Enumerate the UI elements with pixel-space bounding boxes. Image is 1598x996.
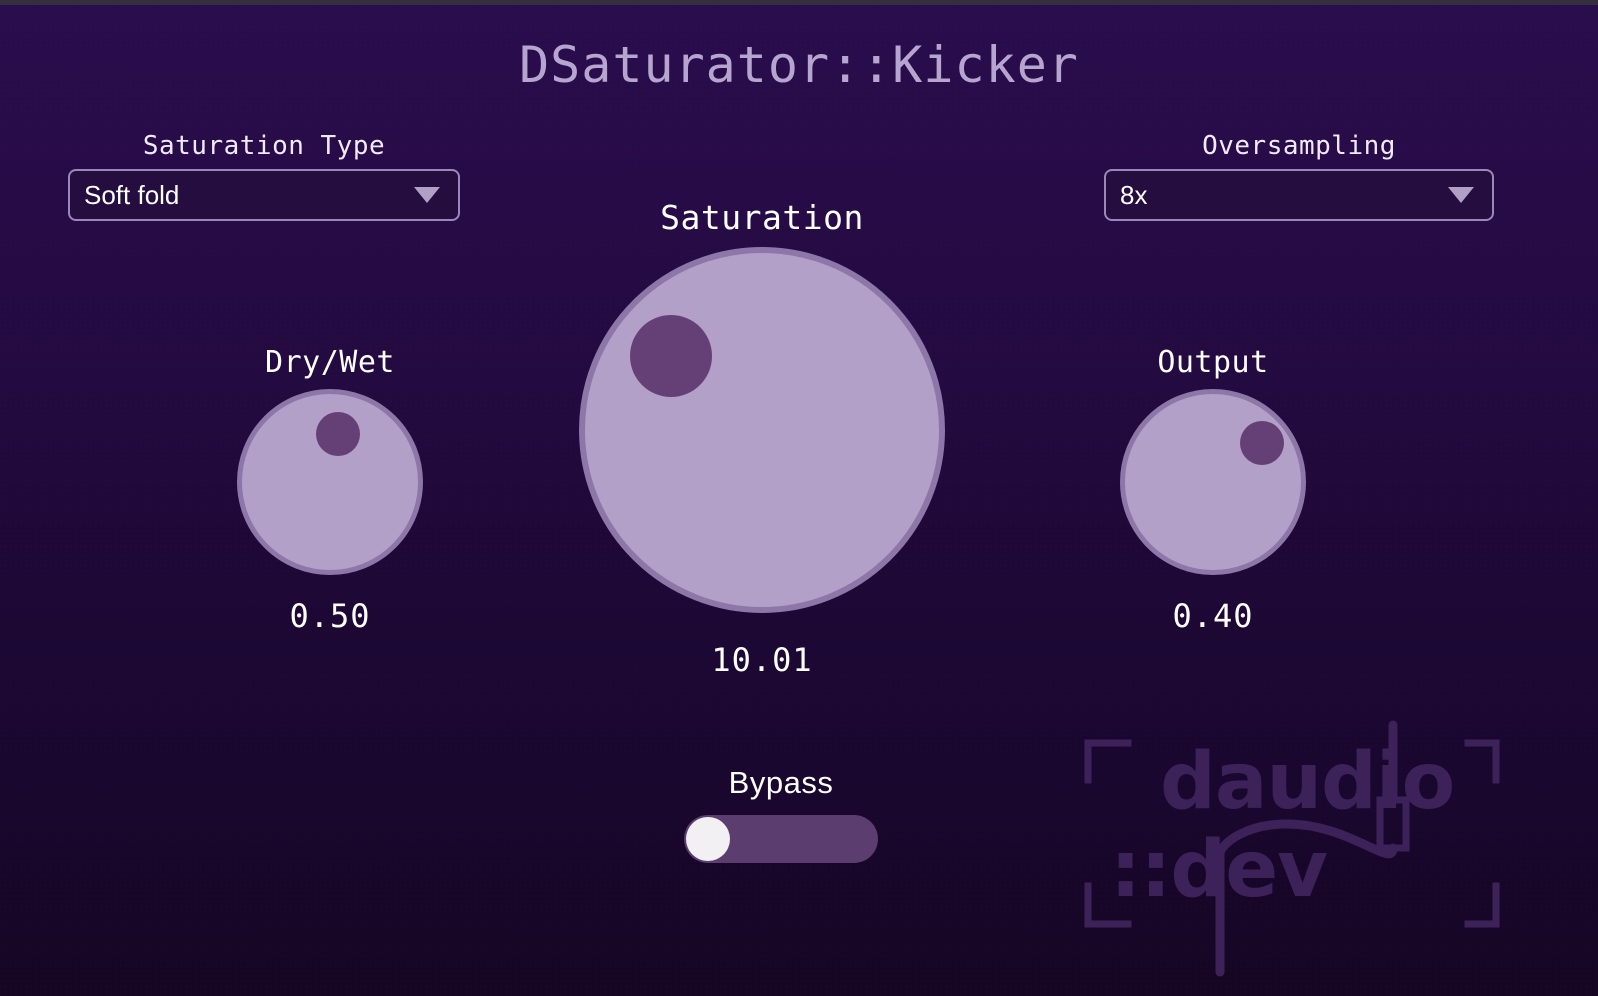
saturation-knob-group: Saturation 10.01 — [529, 198, 995, 679]
oversampling-label: Oversampling — [1104, 131, 1494, 161]
output-knob-value: 0.40 — [1094, 597, 1332, 635]
output-knob-dial[interactable] — [1120, 389, 1306, 575]
saturation-type-dropdown[interactable]: Soft fold — [68, 169, 460, 221]
drywet-knob-group: Dry/Wet 0.50 — [211, 345, 449, 635]
saturation-knob-dial[interactable] — [579, 247, 945, 613]
bypass-toggle[interactable] — [684, 815, 878, 863]
drywet-knob-dial[interactable] — [237, 389, 423, 575]
oversampling-group: Oversampling 8x — [1104, 131, 1494, 221]
output-knob-indicator — [1240, 421, 1284, 465]
saturation-type-group: Saturation Type Soft fold — [68, 131, 460, 221]
bypass-label: Bypass — [640, 765, 922, 801]
chevron-down-icon — [1448, 187, 1474, 203]
page-title: DSaturator::Kicker — [0, 36, 1598, 94]
saturation-knob-indicator — [630, 315, 712, 397]
oversampling-value: 8x — [1106, 180, 1147, 211]
oversampling-dropdown[interactable]: 8x — [1104, 169, 1494, 221]
saturation-knob-value: 10.01 — [529, 641, 995, 679]
drywet-knob-value: 0.50 — [211, 597, 449, 635]
chevron-down-icon — [414, 187, 440, 203]
output-knob-group: Output 0.40 — [1094, 345, 1332, 635]
plugin-window: daudio ::dev DSaturator::Kicker Saturati… — [0, 0, 1598, 996]
drywet-knob-label: Dry/Wet — [211, 345, 449, 380]
bypass-group: Bypass — [640, 765, 922, 863]
saturation-type-label: Saturation Type — [68, 131, 460, 161]
window-title-strip — [0, 0, 1598, 5]
saturation-type-value: Soft fold — [70, 180, 179, 211]
bypass-toggle-thumb — [686, 817, 730, 861]
output-knob-label: Output — [1094, 345, 1332, 380]
saturation-knob-label: Saturation — [529, 198, 995, 237]
drywet-knob-indicator — [316, 412, 360, 456]
